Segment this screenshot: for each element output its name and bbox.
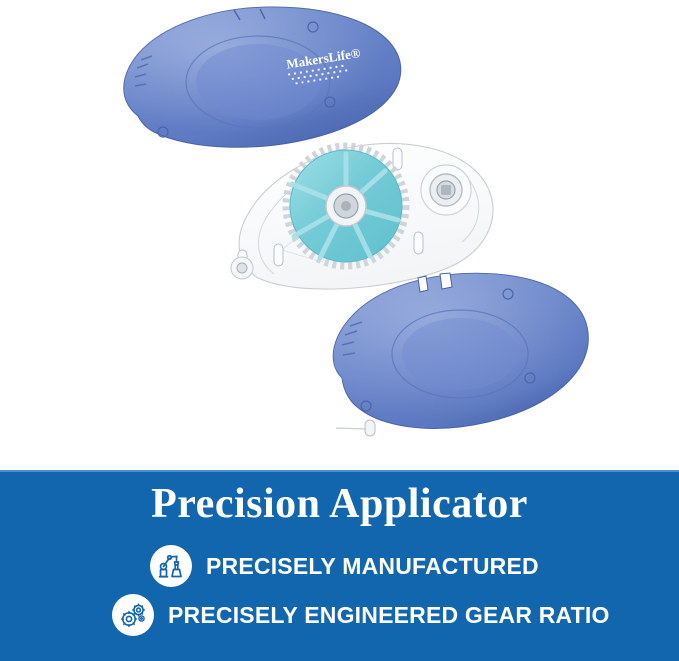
product-infographic: MakersLife® [0, 0, 679, 661]
take-up-reel [421, 165, 471, 215]
robot-arm-icon [150, 545, 192, 587]
marketing-banner: Precision Applicator [0, 470, 679, 661]
feature-row-precisely-manufactured: PRECISELY MANUFACTURED [150, 545, 539, 587]
feature-label: PRECISELY ENGINEERED GEAR RATIO [168, 602, 610, 629]
lower-shell-pin [336, 420, 375, 436]
upper-blue-shell: MakersLife® [108, 4, 408, 164]
banner-title: Precision Applicator [0, 480, 679, 528]
feature-row-gear-ratio: PRECISELY ENGINEERED GEAR RATIO [112, 594, 610, 636]
gears-icon [112, 594, 154, 636]
lower-blue-shell [320, 268, 595, 443]
feature-label: PRECISELY MANUFACTURED [206, 553, 539, 580]
product-photo-area: MakersLife® [0, 0, 679, 470]
applicator-tip [231, 257, 253, 279]
